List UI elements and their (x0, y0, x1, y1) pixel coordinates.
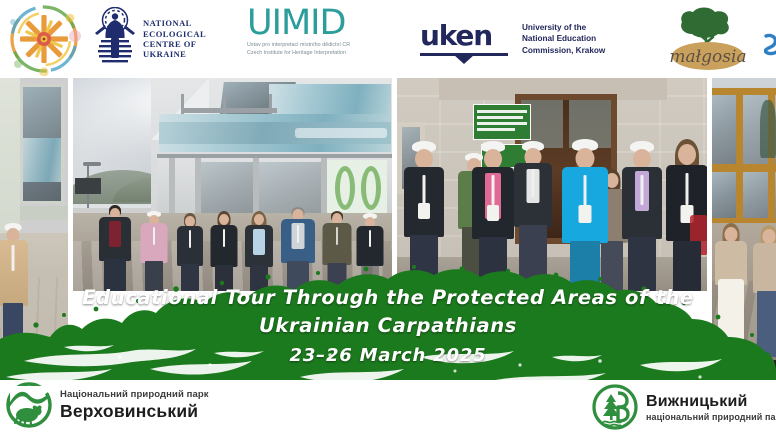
person-figure (209, 211, 239, 291)
uimid-wordmark: UIMID (247, 4, 397, 42)
photo-2-scene (73, 78, 392, 291)
person-figure (321, 211, 353, 291)
vyzhnytskyi-name: Вижницький національний природний парк (646, 392, 776, 423)
person-figure (403, 141, 445, 291)
event-title-line-1: Educational Tour Through the Protected A… (0, 284, 776, 311)
verkhovynskyi-title: Верховинський (60, 401, 209, 421)
person-figure (97, 205, 133, 291)
fir-tree-letter-v-roundel-icon (592, 384, 638, 430)
partial-blue-logo-cropped-icon (764, 30, 776, 58)
person-figure (621, 141, 663, 291)
uken-name: University of the National Education Com… (522, 22, 605, 56)
photo-3-scene (397, 78, 707, 291)
malgosia-logo: małgosia (662, 4, 754, 74)
event-poster: NATIONAL ECOLOGICAL CENTRE OF UKRAINE UI… (0, 0, 776, 436)
necu-figure-icon (92, 7, 138, 71)
photo-group-in-front-of-visitor-centre (73, 78, 392, 291)
header-logo-bar: NATIONAL ECOLOGICAL CENTRE OF UKRAINE UI… (0, 0, 776, 78)
verkhovynskyi-national-nature-park-logo: Національний природний парк Верховинськи… (6, 382, 209, 428)
decorative-sunburst-emblem-icon (4, 2, 84, 76)
event-title-line-2: Ukrainian Carpathians (0, 311, 776, 341)
svg-text:małgosia: małgosia (669, 47, 746, 67)
uken-wordmark: uken (420, 22, 508, 50)
person-figure (243, 211, 275, 291)
uimid-logo: UIMID Ústav pro interpretaci místního dě… (247, 4, 397, 74)
person-figure (471, 141, 515, 291)
verkhovynskyi-name: Національний природний парк Верховинськи… (60, 389, 209, 421)
uken-underline-icon (420, 53, 508, 56)
malgosia-tree-icon: małgosia (662, 4, 754, 74)
footer-logo-bar: Національний природний парк Верховинськи… (0, 380, 776, 436)
bear-and-mountain-roundel-icon (6, 382, 52, 428)
uimid-subtitle-en: Czech Institute for Heritage Interpretat… (247, 50, 397, 58)
person-figure (665, 139, 707, 291)
verkhovynskyi-subtitle: Національний природний парк (60, 389, 209, 401)
person-figure (175, 213, 204, 291)
necu-name: NATIONAL ECOLOGICAL CENTRE OF UKRAINE (143, 18, 206, 60)
person-figure (355, 213, 385, 291)
photo-group-at-park-office-entrance (397, 78, 707, 291)
vyzhnytskyi-national-nature-park-logo: Вижницький національний природний парк (592, 384, 776, 430)
person-figure (561, 139, 609, 291)
vyzhnytskyi-subtitle: національний природний парк (646, 411, 776, 423)
vyzhnytskyi-title: Вижницький (646, 392, 776, 411)
event-dates: 23–26 March 2025 (0, 341, 776, 371)
uken-wordmark-block: uken (420, 22, 508, 56)
uken-logo: uken University of the National Educatio… (420, 10, 660, 68)
person-figure (139, 211, 169, 291)
banner-title-block: Educational Tour Through the Protected A… (0, 284, 776, 371)
person-figure (279, 207, 317, 291)
necu-logo: NATIONAL ECOLOGICAL CENTRE OF UKRAINE (92, 6, 222, 72)
uimid-subtitle-cs: Ústav pro interpretaci místního dědictví… (247, 42, 397, 50)
person-figure (513, 141, 553, 291)
